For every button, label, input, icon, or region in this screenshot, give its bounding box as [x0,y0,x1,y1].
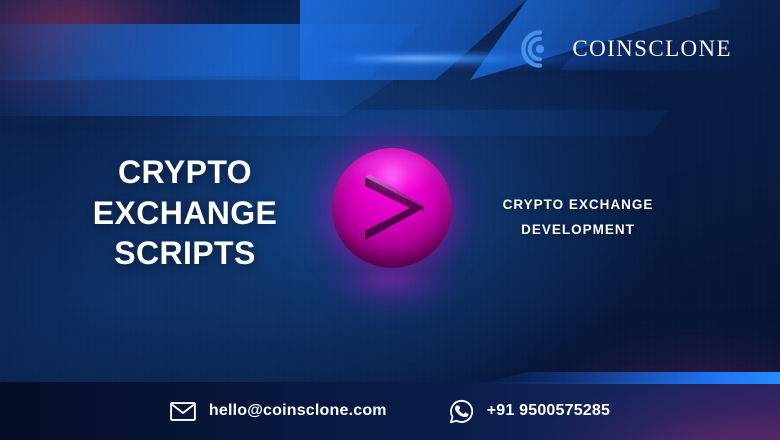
coinsclone-circular-mark-icon [521,30,559,68]
phone-number: +91 9500575285 [487,402,610,420]
brand-name: COINSCLONE [572,36,732,62]
coin-reflection [316,274,468,320]
email-address: hello@coinsclone.com [209,402,387,420]
coin-graphic [332,148,452,268]
coin-sphere [332,148,452,268]
headline-line-2: EXCHANGE [60,193,310,234]
footer-contact-bar: hello@coinsclone.com +91 9500575285 [0,382,780,440]
subtitle: CRYPTO EXCHANGE DEVELOPMENT [478,193,678,243]
page-title: CRYPTO EXCHANGE SCRIPTS [60,152,310,274]
headline-line-1: CRYPTO [60,152,310,193]
whatsapp-icon [449,399,474,424]
contact-phone[interactable]: +91 9500575285 [449,399,610,424]
brand-logo[interactable]: COINSCLONE [521,30,732,68]
subtitle-line-2: DEVELOPMENT [478,218,678,243]
headline-line-3: SCRIPTS [60,233,310,274]
envelope-icon [170,402,196,421]
promo-banner: COINSCLONE CRYPTO EXCHANGE SCRIPTS [0,0,780,440]
contact-email[interactable]: hello@coinsclone.com [170,402,387,421]
subtitle-line-1: CRYPTO EXCHANGE [478,193,678,218]
